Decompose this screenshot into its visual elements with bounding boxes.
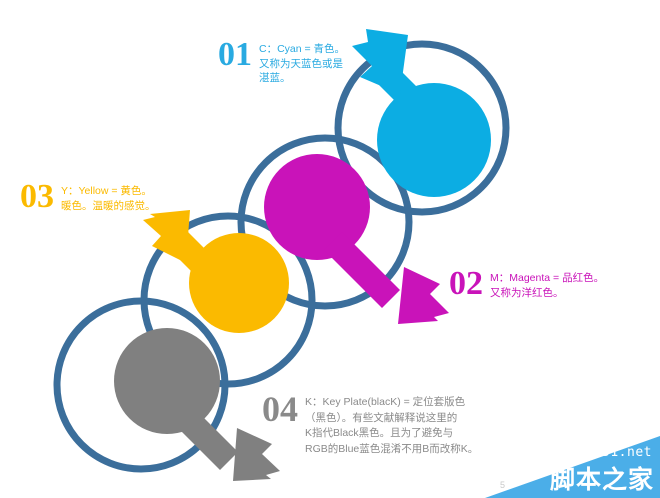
label-black: 04 K：Key Plate(blacK) = 定位套版色 （黑色）。有些文献解… <box>262 391 478 457</box>
infographic-canvas: 01 C：Cyan = 青色。 又称为天蓝色或是 湛蓝。 02 M：Magent… <box>0 0 660 498</box>
label-black-number: 04 <box>262 391 298 427</box>
label-cyan-number: 01 <box>218 38 252 72</box>
cyan-arrowhead <box>352 29 408 94</box>
label-magenta-number: 02 <box>449 267 483 301</box>
symbol-gray[interactable] <box>114 328 280 481</box>
page-marker: 5 <box>500 480 505 490</box>
label-black-text: K：Key Plate(blacK) = 定位套版色 （黑色）。有些文献解释说这… <box>305 391 478 457</box>
label-magenta-text: M：Magenta = 品红色。 又称为洋红色。 <box>490 267 604 300</box>
label-magenta: 02 M：Magenta = 品红色。 又称为洋红色。 <box>449 267 604 301</box>
label-yellow: 03 Y：Yellow = 黄色。 暖色。温暖的感觉。 <box>20 180 156 214</box>
magenta-arrowhead <box>398 267 449 324</box>
yellow-arrowhead <box>143 210 190 263</box>
label-cyan: 01 C：Cyan = 青色。 又称为天蓝色或是 湛蓝。 <box>218 38 345 86</box>
label-yellow-number: 03 <box>20 180 54 214</box>
symbol-cyan[interactable] <box>352 29 491 197</box>
label-cyan-text: C：Cyan = 青色。 又称为天蓝色或是 湛蓝。 <box>259 38 345 86</box>
label-yellow-text: Y：Yellow = 黄色。 暖色。温暖的感觉。 <box>61 180 156 213</box>
